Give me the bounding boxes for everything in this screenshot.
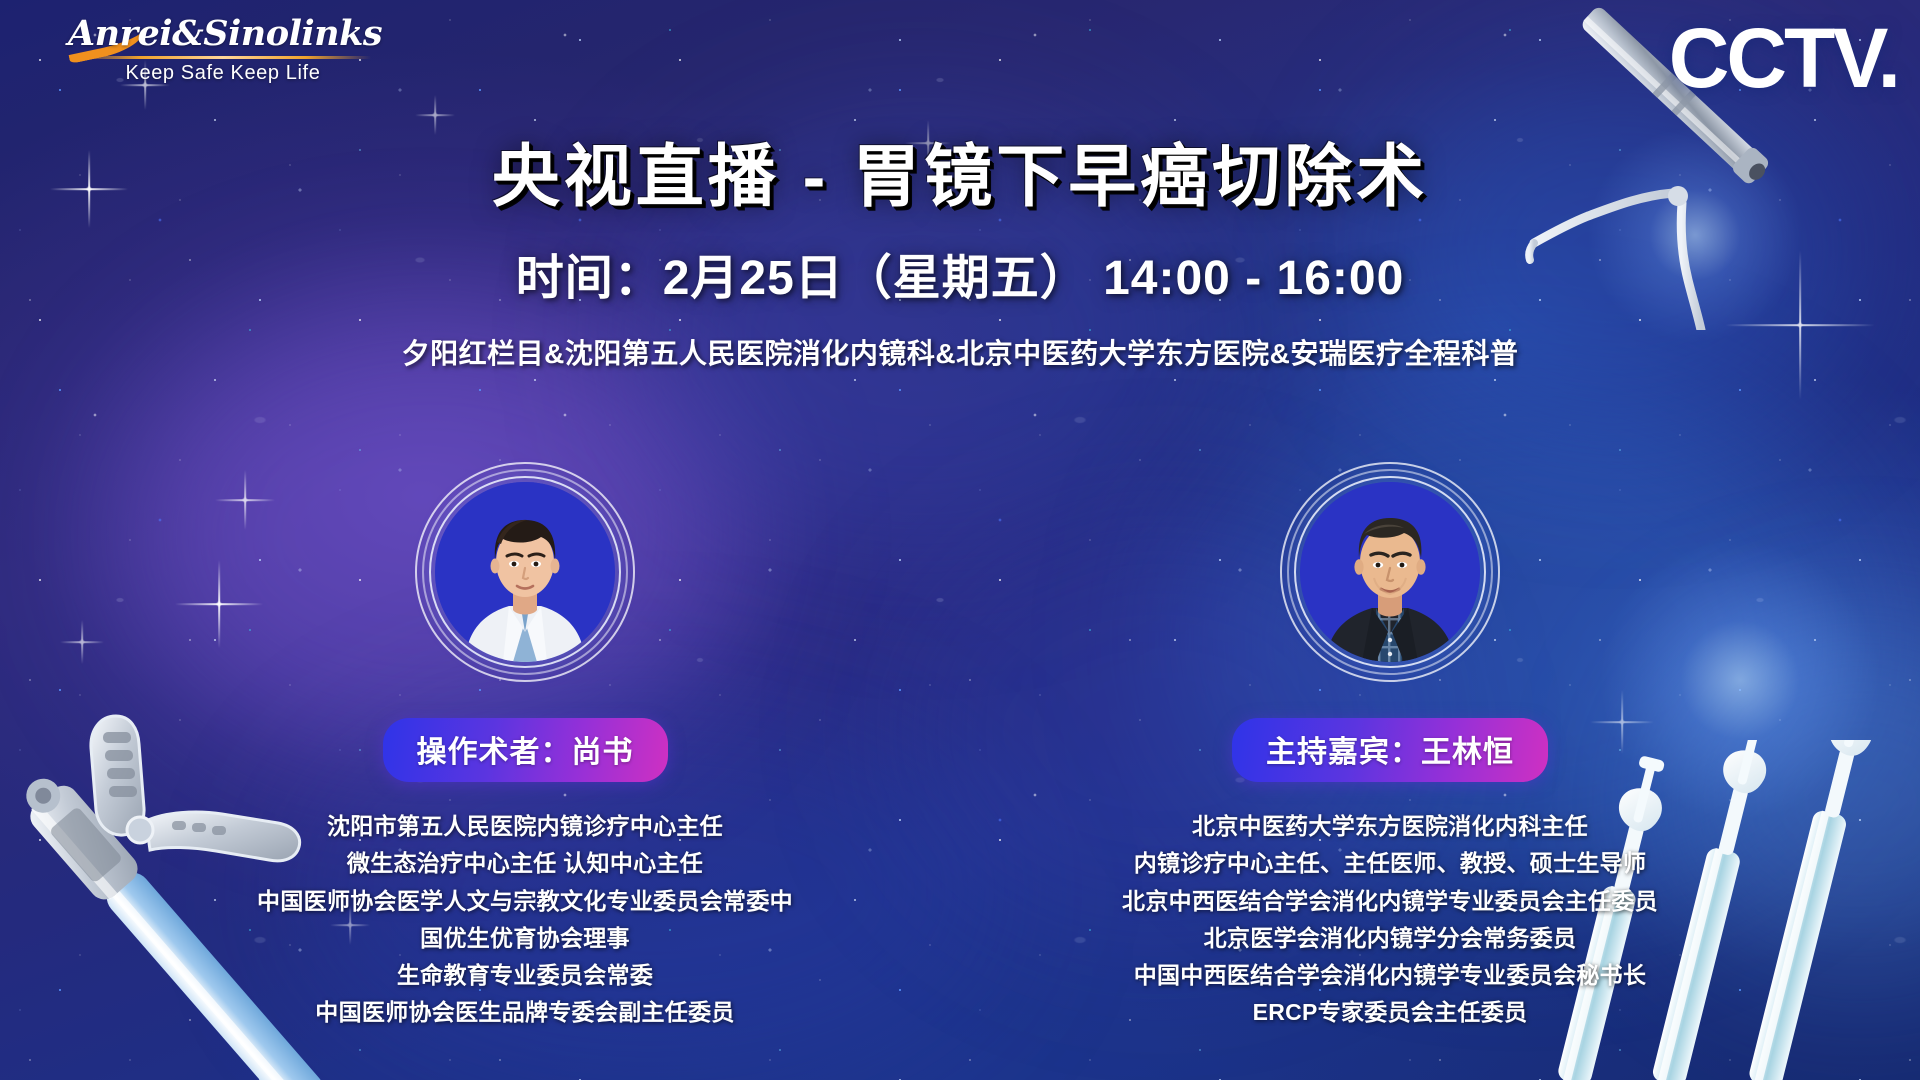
credential-item: 北京医学会消化内镜学分会常务委员 xyxy=(1010,920,1770,957)
avatar xyxy=(1280,462,1500,682)
cctv-logo: CCTV. xyxy=(1669,16,1898,100)
person-card-host: 主持嘉宾：王林恒 北京中医药大学东方医院消化内科主任 内镜诊疗中心主任、主任医师… xyxy=(1010,462,1770,1032)
credential-item: 中国医师协会医学人文与宗教文化专业委员会常委中 xyxy=(145,883,905,920)
credential-item: 北京中西医结合学会消化内镜学专业委员会主任委员 xyxy=(1010,883,1770,920)
live-broadcast-poster: Anrei&Sinolinks Keep Safe Keep Life CCTV… xyxy=(0,0,1920,1080)
credentials-list-operator: 沈阳市第五人民医院内镜诊疗中心主任 微生态治疗中心主任 认知中心主任 中国医师协… xyxy=(145,808,905,1032)
sparkle-star xyxy=(60,620,104,664)
role-badge-host: 主持嘉宾：王林恒 xyxy=(1232,718,1548,782)
sparkle-star xyxy=(415,95,455,135)
logo-brand-text: Anrei&Sinolinks xyxy=(68,16,378,51)
person-card-operator: 操作术者：尚书 沈阳市第五人民医院内镜诊疗中心主任 微生态治疗中心主任 认知中心… xyxy=(145,462,905,1032)
credential-item: 国优生优育协会理事 xyxy=(145,920,905,957)
title-block: 央视直播 - 胃镜下早癌切除术 时间：2月25日（星期五） 14:00 - 16… xyxy=(0,138,1920,372)
credential-item: 内镜诊疗中心主任、主任医师、教授、硕士生导师 xyxy=(1010,845,1770,882)
credential-item: 北京中医药大学东方医院消化内科主任 xyxy=(1010,808,1770,845)
credential-item: ERCP专家委员会主任委员 xyxy=(1010,994,1770,1031)
broadcast-time: 时间：2月25日（星期五） 14:00 - 16:00 xyxy=(0,238,1920,308)
credential-item: 微生态治疗中心主任 认知中心主任 xyxy=(145,845,905,882)
role-badge-operator: 操作术者：尚书 xyxy=(383,718,668,782)
page-title: 央视直播 - 胃镜下早癌切除术 xyxy=(0,138,1920,216)
credential-item: 中国医师协会医生品牌专委会副主任委员 xyxy=(145,994,905,1031)
credential-item: 沈阳市第五人民医院内镜诊疗中心主任 xyxy=(145,808,905,845)
logo-divider xyxy=(75,56,371,59)
avatar xyxy=(415,462,635,682)
credentials-list-host: 北京中医药大学东方医院消化内科主任 内镜诊疗中心主任、主任医师、教授、硕士生导师… xyxy=(1010,808,1770,1032)
partners-line: 夕阳红栏目&沈阳第五人民医院消化内镜科&北京中医药大学东方医院&安瑞医疗全程科普 xyxy=(0,332,1920,372)
logo-tagline: Keep Safe Keep Life xyxy=(68,63,378,83)
avatar-photo-operator xyxy=(435,482,615,662)
credential-item: 中国中西医结合学会消化内镜学专业委员会秘书长 xyxy=(1010,957,1770,994)
credential-item: 生命教育专业委员会常委 xyxy=(145,957,905,994)
anrei-sinolinks-logo: Anrei&Sinolinks Keep Safe Keep Life xyxy=(68,16,378,83)
avatar-photo-host xyxy=(1300,482,1480,662)
